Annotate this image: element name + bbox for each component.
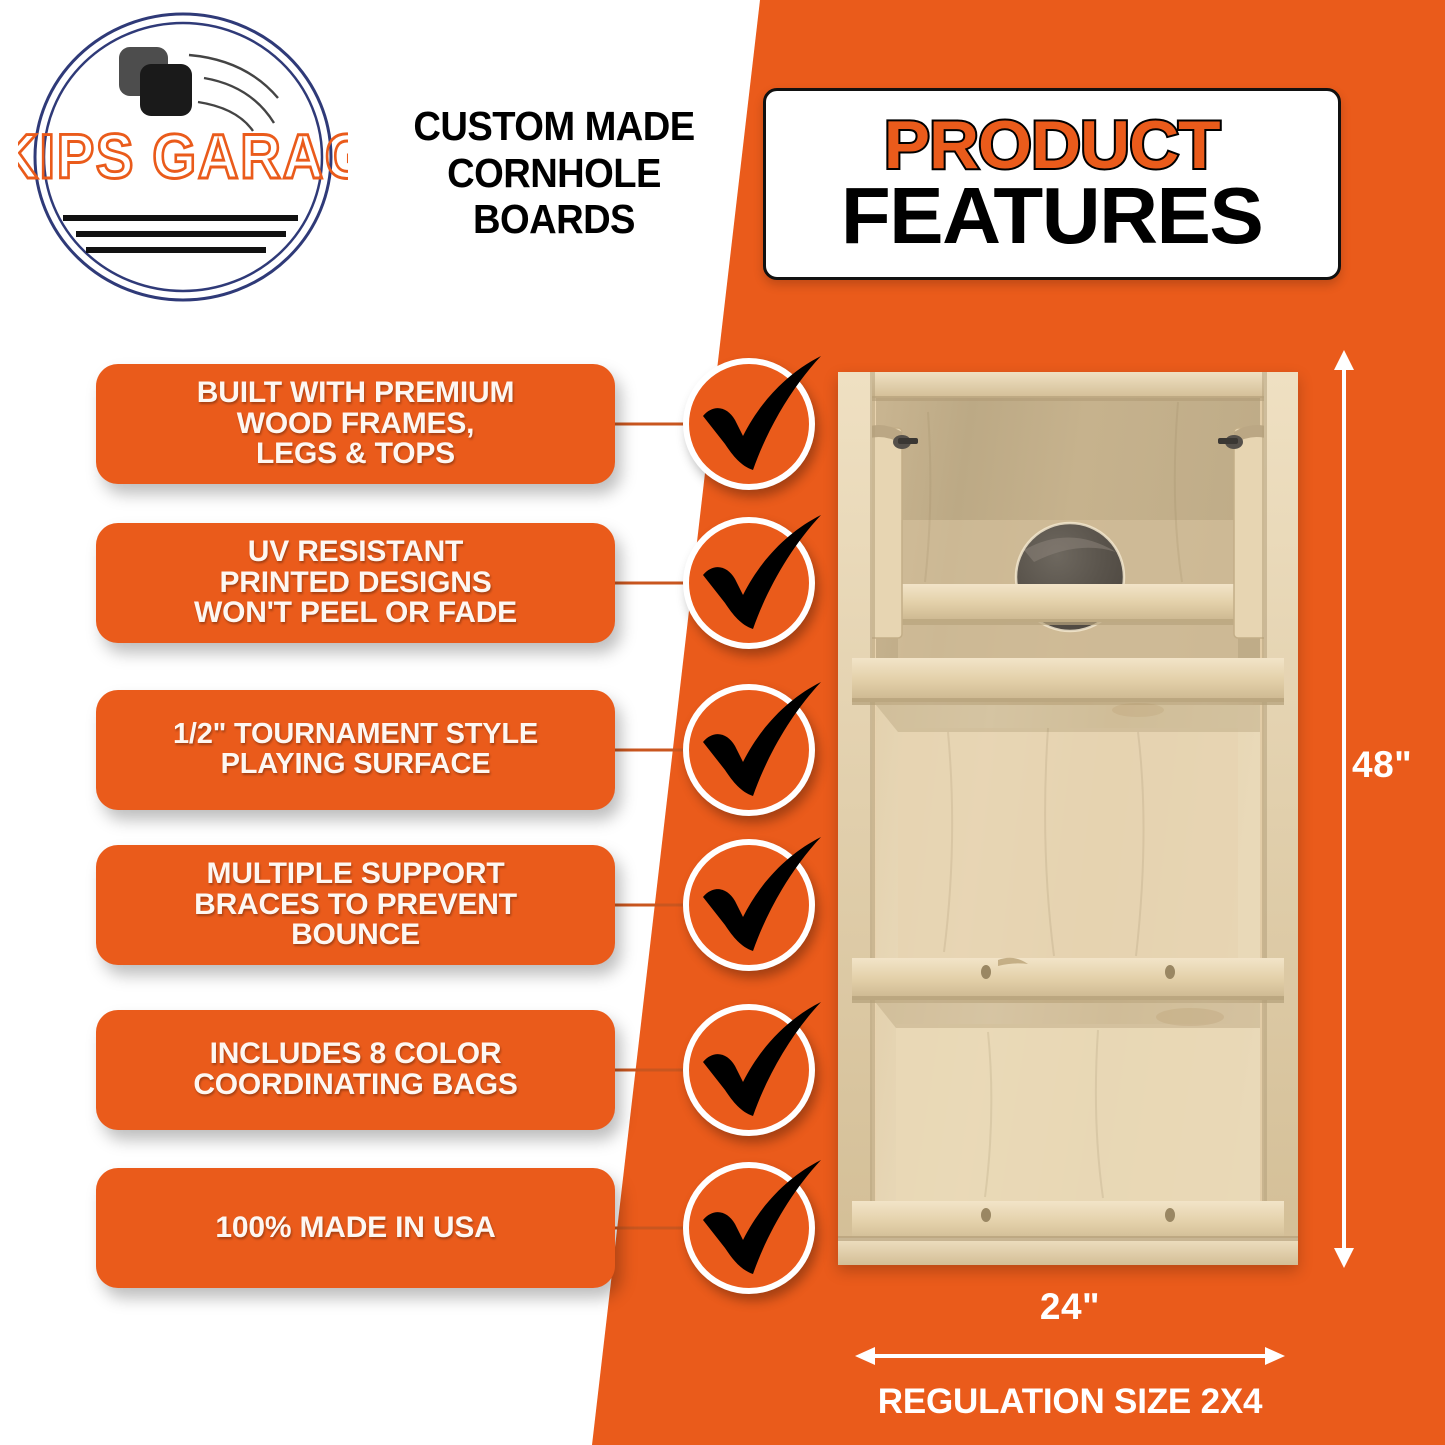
- dimension-arrow-horizontal: [855, 1345, 1285, 1367]
- feature-label: BUILT WITH PREMIUM WOOD FRAMES, LEGS & T…: [183, 378, 528, 471]
- feature-check-badge: [683, 1004, 815, 1136]
- check-mark-icon: [679, 503, 829, 653]
- skips-garage-logo-icon: SKIPS GARAGE: [18, 10, 348, 305]
- feature-label: UV RESISTANT PRINTED DESIGNS WON'T PEEL …: [180, 537, 531, 630]
- feature-row: 100% MADE IN USA: [0, 1168, 830, 1288]
- check-mark-icon: [679, 670, 829, 820]
- feature-row: UV RESISTANT PRINTED DESIGNS WON'T PEEL …: [0, 523, 830, 643]
- product-photo-cornhole-board: [838, 372, 1298, 1265]
- feature-pill: 1/2" TOURNAMENT STYLE PLAYING SURFACE: [96, 690, 615, 810]
- feature-check-badge: [683, 839, 815, 971]
- feature-pill: UV RESISTANT PRINTED DESIGNS WON'T PEEL …: [96, 523, 615, 643]
- check-mark-icon: [679, 990, 829, 1140]
- product-features-banner: PRODUCT FEATURES: [763, 88, 1341, 280]
- feature-check-badge: [683, 684, 815, 816]
- check-mark-icon: [679, 1148, 829, 1298]
- feature-label: 100% MADE IN USA: [201, 1213, 509, 1244]
- feature-check-badge: [683, 517, 815, 649]
- feature-pill: INCLUDES 8 COLOR COORDINATING BAGS: [96, 1010, 615, 1130]
- feature-row: INCLUDES 8 COLOR COORDINATING BAGS: [0, 1010, 830, 1130]
- svg-text:SKIPS GARAGE: SKIPS GARAGE: [18, 121, 348, 191]
- feature-label: INCLUDES 8 COLOR COORDINATING BAGS: [179, 1039, 531, 1101]
- feature-row: BUILT WITH PREMIUM WOOD FRAMES, LEGS & T…: [0, 364, 830, 484]
- dimension-label-width: 24": [855, 1286, 1285, 1328]
- cornhole-board-underside-illustration: [838, 372, 1298, 1265]
- dimension-arrow-vertical: [1331, 350, 1357, 1268]
- banner-line-product: PRODUCT: [884, 114, 1220, 177]
- check-mark-icon: [679, 344, 829, 494]
- check-mark-icon: [679, 825, 829, 975]
- page-title: CUSTOM MADE CORNHOLE BOARDS: [366, 103, 742, 243]
- banner-line-features: FEATURES: [841, 178, 1262, 254]
- regulation-size-label: REGULATION SIZE 2X4: [830, 1382, 1310, 1422]
- feature-row: MULTIPLE SUPPORT BRACES TO PREVENT BOUNC…: [0, 845, 830, 965]
- feature-row: 1/2" TOURNAMENT STYLE PLAYING SURFACE: [0, 690, 830, 810]
- feature-check-badge: [683, 358, 815, 490]
- feature-pill: BUILT WITH PREMIUM WOOD FRAMES, LEGS & T…: [96, 364, 615, 484]
- feature-label: MULTIPLE SUPPORT BRACES TO PREVENT BOUNC…: [180, 859, 531, 952]
- feature-pill: MULTIPLE SUPPORT BRACES TO PREVENT BOUNC…: [96, 845, 615, 965]
- feature-check-badge: [683, 1162, 815, 1294]
- dimension-label-height: 48": [1352, 744, 1412, 786]
- feature-label: 1/2" TOURNAMENT STYLE PLAYING SURFACE: [159, 720, 552, 780]
- feature-pill: 100% MADE IN USA: [96, 1168, 615, 1288]
- product-features-infographic: SKIPS GARAGE CUSTOM MADE CORNHOLE BOARDS…: [0, 0, 1445, 1445]
- brand-logo: SKIPS GARAGE: [18, 10, 348, 305]
